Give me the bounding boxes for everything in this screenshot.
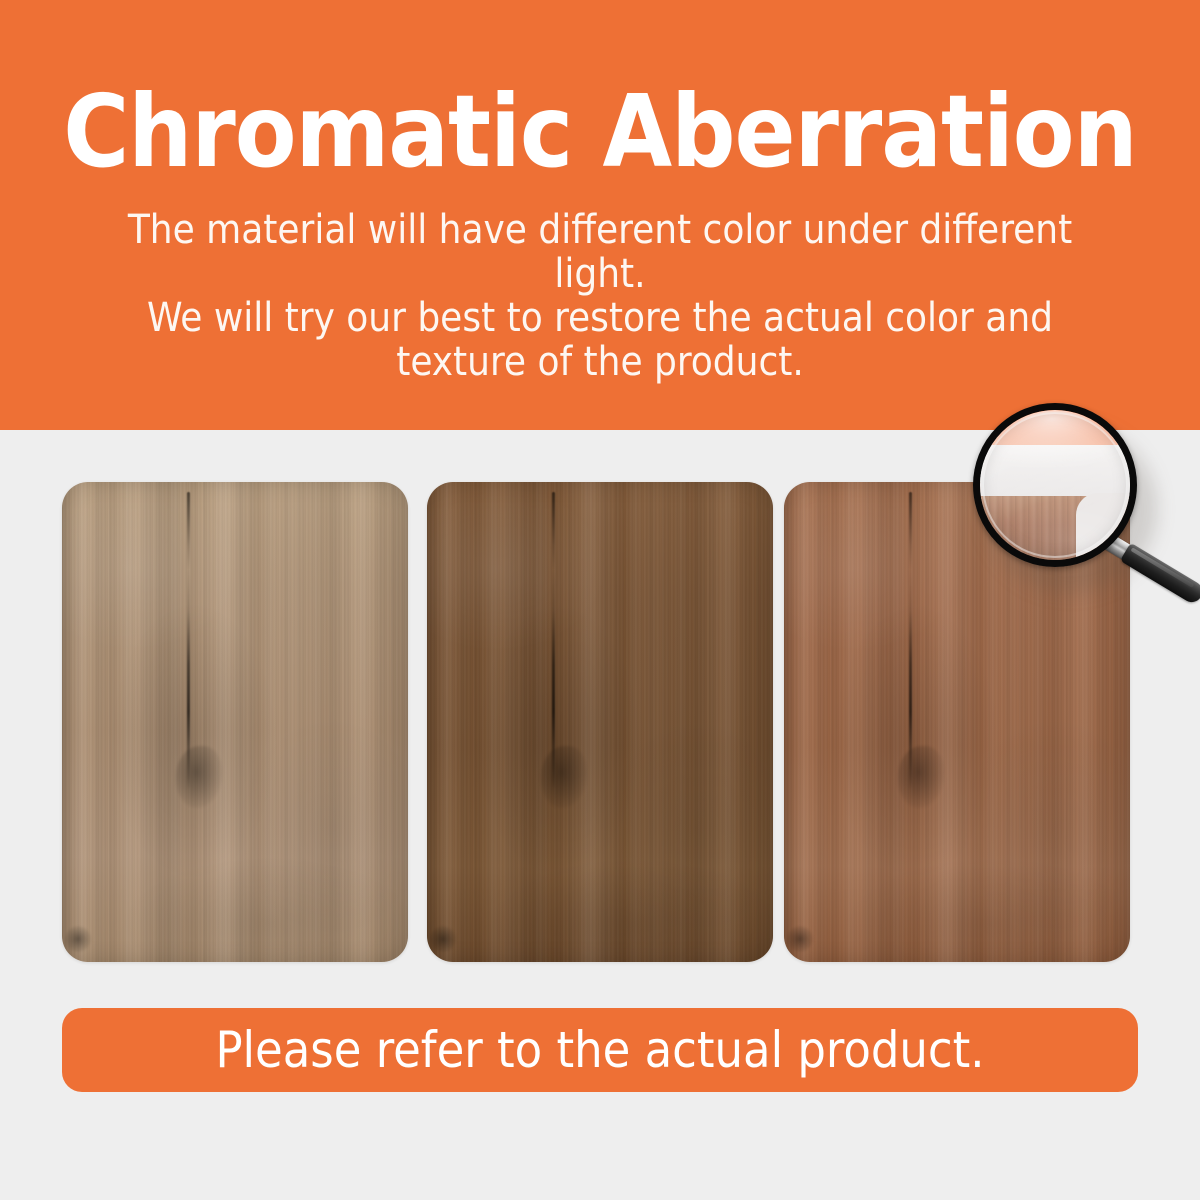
cherry-panel <box>784 482 1130 962</box>
light-oak-panel <box>62 482 408 962</box>
footer-banner: Please refer to the actual product. <box>62 1008 1138 1092</box>
subtitle-line-3: texture of the product. <box>100 340 1100 384</box>
subtitle-line-1: The material will have different color u… <box>100 208 1100 296</box>
walnut-panel <box>427 482 773 962</box>
page-title: Chromatic Aberration <box>0 82 1200 182</box>
chromatic-aberration-infographic: Chromatic Aberration The material will h… <box>0 0 1200 1200</box>
header-band: Chromatic Aberration The material will h… <box>0 0 1200 430</box>
walnut-edge-shading <box>427 482 773 962</box>
wood-sample-row <box>62 482 1120 962</box>
header-subtitle: The material will have different color u… <box>100 208 1100 384</box>
light-oak-edge-shading <box>62 482 408 962</box>
subtitle-line-2: We will try our best to restore the actu… <box>100 296 1100 340</box>
footer-banner-text: Please refer to the actual product. <box>215 1025 984 1075</box>
cherry-edge-shading <box>784 482 1130 962</box>
